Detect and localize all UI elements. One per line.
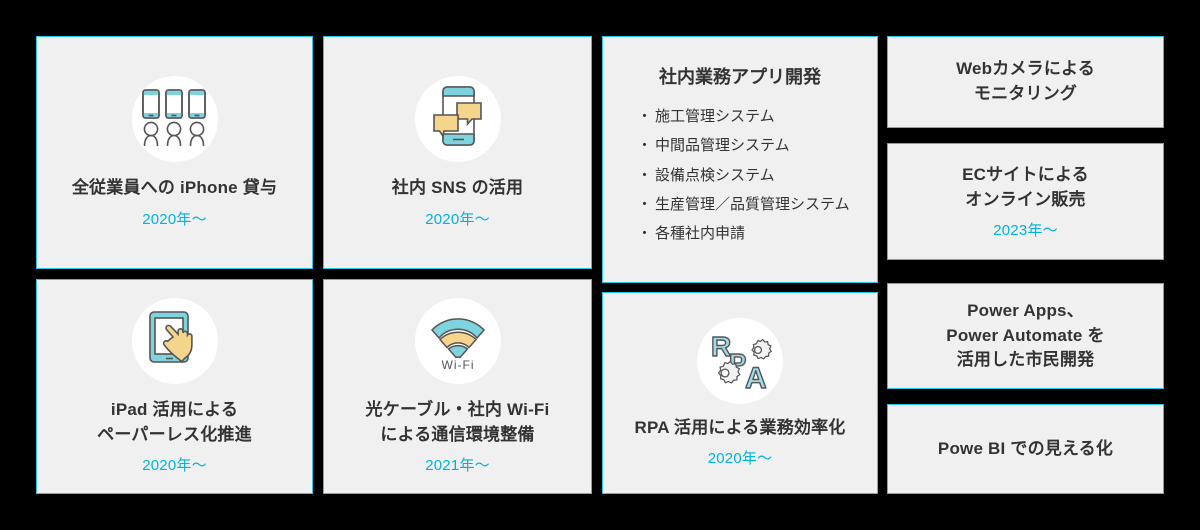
phone-with-chat-bubbles-icon	[415, 76, 501, 162]
list-item: ・ 各種社内申請	[637, 224, 851, 244]
card-title-line: Power Apps、	[946, 299, 1104, 324]
card-title-line: Webカメラによる	[956, 57, 1095, 82]
wifi-icon-label: Wi-Fi	[441, 358, 474, 372]
card-title: Power Apps、 Power Automate を 活用した市民開発	[946, 299, 1104, 373]
list-item-label: 設備点検システム	[655, 166, 775, 186]
card-ec-site-online-sales: ECサイトによる オンライン販売 2023年～	[887, 143, 1164, 260]
card-year: 2020年～	[708, 447, 773, 468]
list-item: ・ 中間品管理システム	[637, 136, 851, 156]
card-year: 2023年～	[993, 219, 1058, 240]
card-iphone-lending: 全従業員への iPhone 貸与 2020年～	[36, 36, 313, 269]
list-item-label: 各種社内申請	[655, 224, 745, 244]
bullet: ・	[637, 136, 652, 156]
card-title-line: による通信環境整備	[366, 423, 550, 448]
card-title: Powe BI での見える化	[938, 437, 1113, 462]
diagram-board: 全従業員への iPhone 貸与 2020年～ 社内 SNS の活用 2020年…	[0, 0, 1200, 530]
list-item: ・ 施工管理システム	[637, 107, 851, 127]
card-webcam-monitoring: Webカメラによる モニタリング	[887, 36, 1164, 128]
card-year: 2020年～	[142, 454, 207, 475]
card-year: 2020年～	[425, 208, 490, 229]
card-title-line: Power Automate を	[946, 324, 1104, 349]
rpa-gears-icon: R P A	[697, 318, 783, 404]
card-power-bi-visualization: Powe BI での見える化	[887, 404, 1164, 494]
card-title-line: ECサイトによる	[962, 163, 1089, 188]
card-year: 2020年～	[142, 208, 207, 229]
three-phones-with-people-icon	[132, 76, 218, 162]
card-title-line: 活用した市民開発	[946, 348, 1104, 373]
card-title-line: オンライン販売	[962, 188, 1089, 213]
bullet: ・	[637, 195, 652, 215]
list-item: ・ 設備点検システム	[637, 166, 851, 186]
list-item-label: 中間品管理システム	[655, 136, 790, 156]
list-item-label: 施工管理システム	[655, 107, 775, 127]
card-internal-business-app-development: 社内業務アプリ開発 ・ 施工管理システム ・ 中間品管理システム ・ 設備点検シ…	[602, 36, 878, 283]
card-title-line: iPad 活用による	[97, 398, 252, 423]
card-title: ECサイトによる オンライン販売	[962, 163, 1089, 212]
list-item: ・ 生産管理／品質管理システム	[637, 195, 851, 215]
card-power-platform-citizen-development: Power Apps、 Power Automate を 活用した市民開発	[887, 283, 1164, 389]
card-title: 社内 SNS の活用	[392, 176, 523, 201]
card-ipad-paperless: iPad 活用による ペーパーレス化推進 2020年～	[36, 279, 313, 494]
wifi-icon: Wi-Fi	[415, 298, 501, 384]
card-title-line: ペーパーレス化推進	[97, 423, 252, 448]
card-rpa-efficiency: R P A RPA 活用による業務効率化 2020年～	[602, 292, 878, 494]
card-fiber-wifi: Wi-Fi 光ケーブル・社内 Wi-Fi による通信環境整備 2021年～	[323, 279, 592, 494]
bullet: ・	[637, 166, 652, 186]
card-title: iPad 活用による ペーパーレス化推進	[97, 398, 252, 447]
tablet-with-hand-icon	[132, 298, 218, 384]
card-internal-sns: 社内 SNS の活用 2020年～	[323, 36, 592, 269]
card-title: Webカメラによる モニタリング	[956, 57, 1095, 106]
card-title: 全従業員への iPhone 貸与	[72, 176, 277, 201]
card-title-line: モニタリング	[956, 82, 1095, 107]
card-title-line: 光ケーブル・社内 Wi-Fi	[366, 398, 550, 423]
card-title: 社内業務アプリ開発	[629, 63, 851, 89]
bullet: ・	[637, 224, 652, 244]
card-year: 2021年～	[425, 454, 490, 475]
card-title: 光ケーブル・社内 Wi-Fi による通信環境整備	[366, 398, 550, 447]
bullet: ・	[637, 107, 652, 127]
app-list: ・ 施工管理システム ・ 中間品管理システム ・ 設備点検システム ・ 生産管理…	[629, 107, 851, 244]
list-item-label: 生産管理／品質管理システム	[655, 195, 850, 215]
rpa-letter-a: A	[745, 362, 767, 394]
card-title: RPA 活用による業務効率化	[634, 416, 845, 441]
